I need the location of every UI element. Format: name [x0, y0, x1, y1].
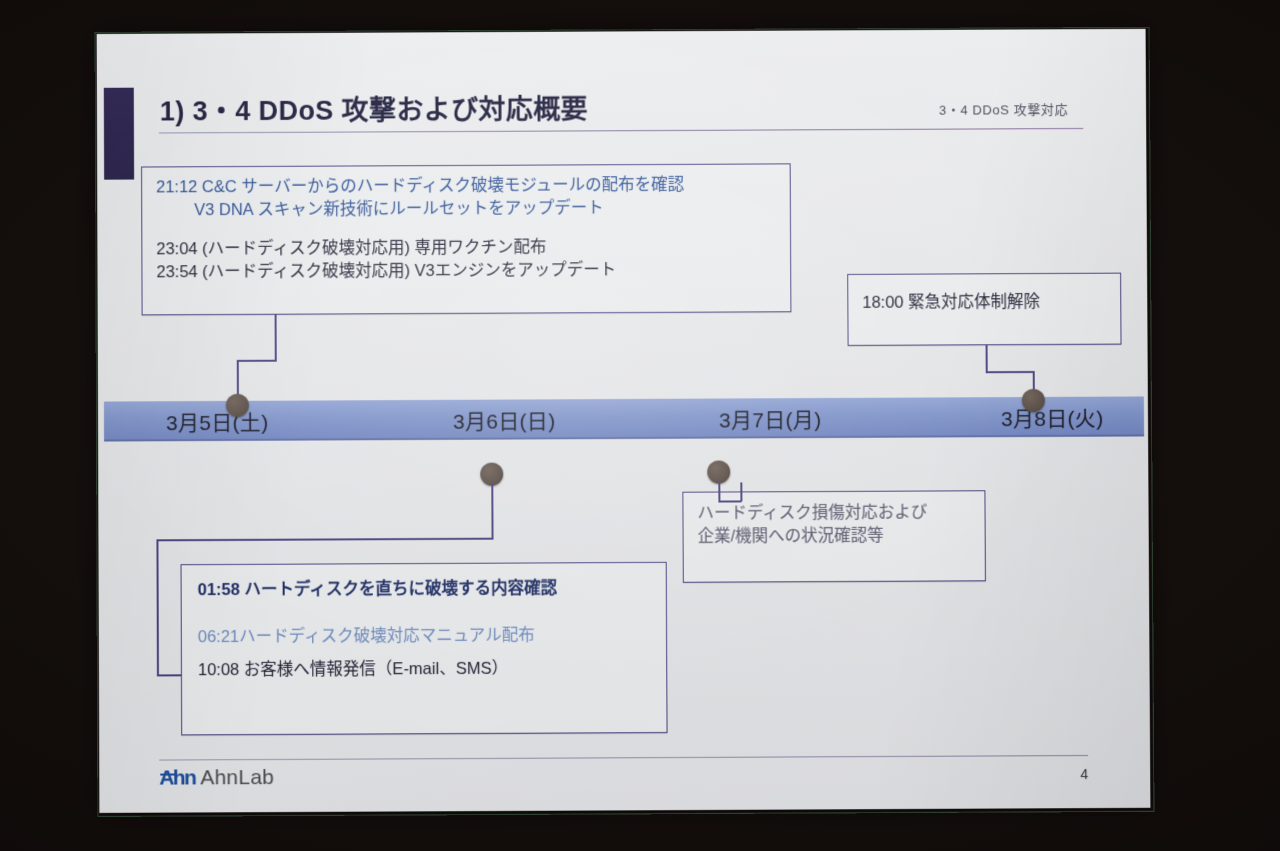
- event-line: 18:00 緊急対応体制解除: [862, 291, 1106, 316]
- ahnlab-logo-mark: Ahn: [159, 766, 195, 790]
- timeline-tick-label-1: 3月5日(土): [166, 407, 269, 438]
- connector-mar6-seg1: [491, 484, 493, 539]
- connector-mar7-seg1: [718, 483, 720, 502]
- event-line: 23:54 (ハードディスク破壊対応用) V3エンジンをアップデート: [156, 259, 776, 285]
- event-line: 企業/機関への状況確認等: [698, 525, 971, 550]
- event-line: ハードディスク損傷対応および: [697, 501, 970, 526]
- connector-mar8-seg1: [986, 345, 988, 372]
- event-line: 01:58 ハートディスクを直ちに破壊する内容確認: [198, 577, 650, 603]
- title-accent-bar: [104, 88, 134, 180]
- event-box-mar8: 18:00 緊急対応体制解除: [847, 273, 1121, 346]
- timeline-tick-label-3: 3月7日(月): [719, 404, 822, 434]
- ahnlab-logo: Ahn AhnLab: [159, 766, 274, 791]
- event-line: 10:08 お客様へ情報発信（E-mail、SMS）: [198, 657, 650, 683]
- event-line: V3 DNA スキャン新技術にルールセットをアップデート: [156, 197, 776, 223]
- timeline-dot-mar7: [707, 460, 730, 483]
- event-box-mar6: 01:58 ハートディスクを直ちに破壊する内容確認 06:21ハードディスク破壊…: [181, 562, 668, 736]
- connector-mar7-seg3: [740, 482, 742, 501]
- event-line: 21:12 C&C サーバーからのハードディスク破壊モジュールの配布を確認: [156, 173, 776, 199]
- timeline-dot-mar8: [1022, 389, 1045, 412]
- ahnlab-logo-text: AhnLab: [200, 766, 274, 790]
- projector-screen: 1) 3・4 DDoS 攻撃および対応概要 3・4 DDoS 攻撃対応 21:1…: [0, 0, 1280, 851]
- connector-mar7-seg2: [718, 500, 741, 502]
- connector-mar6-seg2: [156, 538, 493, 541]
- event-line: 06:21ハードディスク破壊対応マニュアル配布: [198, 624, 650, 650]
- timeline-dot-mar6: [480, 463, 503, 486]
- footer-divider: [159, 755, 1088, 761]
- connector-mar5-seg2: [237, 360, 277, 362]
- timeline-tick-label-2: 3月6日(日): [453, 405, 556, 435]
- timeline-dot-mar5: [226, 394, 249, 417]
- page-number: 4: [1080, 766, 1088, 782]
- page-title: 1) 3・4 DDoS 攻撃および対応概要: [160, 87, 588, 128]
- timeline-tick-label-4: 3月8日(火): [1001, 403, 1104, 433]
- title-divider: [159, 128, 1083, 134]
- presentation-slide: 1) 3・4 DDoS 攻撃および対応概要 3・4 DDoS 攻撃対応 21:1…: [97, 29, 1151, 813]
- event-line: 23:04 (ハードディスク破壊対応用) 専用ワクチン配布: [156, 235, 776, 261]
- connector-mar6-seg3: [156, 539, 158, 676]
- header-tag: 3・4 DDoS 攻撃対応: [939, 99, 1068, 119]
- connector-mar8-seg2: [986, 371, 1034, 373]
- event-box-mar5: 21:12 C&C サーバーからのハードディスク破壊モジュールの配布を確認 V3…: [141, 163, 791, 315]
- event-box-mar7: ハードディスク損傷対応および 企業/機関への状況確認等: [682, 490, 986, 583]
- connector-mar6-seg4: [157, 674, 184, 676]
- connector-mar5-seg1: [275, 315, 277, 361]
